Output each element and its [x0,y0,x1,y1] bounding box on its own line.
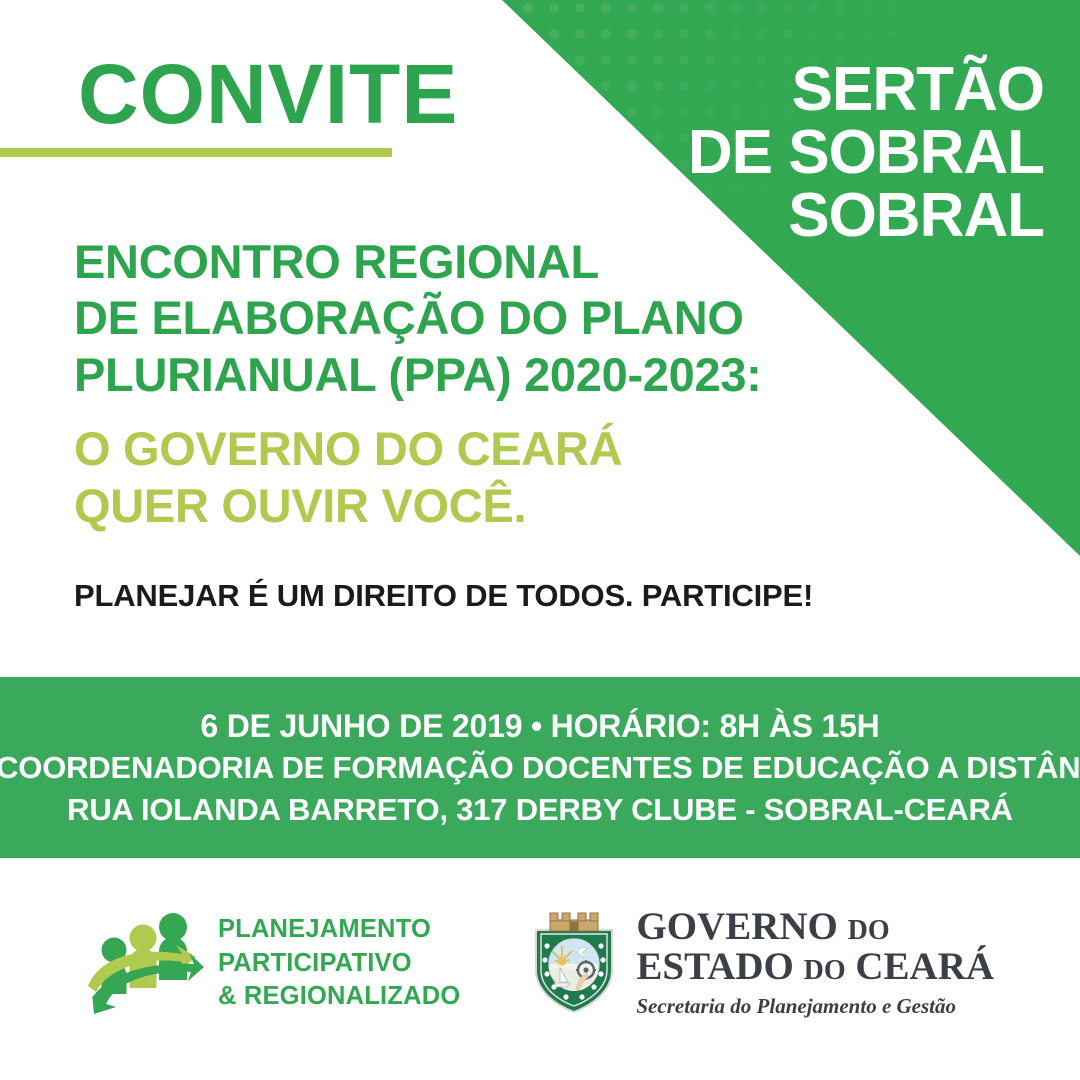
region-title-line3: SOBRAL [564,184,1044,247]
headline-green-block: ENCONTRO REGIONAL DE ELABORAÇÃO DO PLANO… [74,234,762,403]
headline-lime-line2: QUER OUVIR VOCÊ. [74,478,762,534]
invite-underline-rule [0,148,392,157]
region-title: SERTÃO DE SOBRAL SOBRAL [564,58,1044,248]
gov-line1: GOVERNO DO [636,908,994,945]
gov-subtitle: Secretaria do Planejamento e Gestão [636,994,994,1019]
event-place: LOCAL: COORDENADORIA DE FORMAÇÃO DOCENTE… [0,747,1080,789]
invite-heading: CONVITE [78,52,458,136]
ppr-line1: PLANEJAMENTO [218,913,460,947]
three-people-swoosh-icon [86,902,204,1025]
event-address: RUA IOLANDA BARRETO, 317 DERBY CLUBE - S… [67,789,1013,831]
event-date-time: 6 DE JUNHO DE 2019 • HORÁRIO: 8H ÀS 15H [200,705,879,748]
gov-line1-small: DO [848,915,890,946]
planejamento-participativo-label: PLANEJAMENTO PARTICIPATIVO & REGIONALIZA… [218,913,460,1015]
headline-lime-line1: O GOVERNO DO CEARÁ [74,421,762,477]
headline-green-line2: DE ELABORAÇÃO DO PLANO [74,290,762,346]
governo-ceara-label: GOVERNO DO ESTADO DO CEARÁ Secretaria do… [636,904,994,1019]
governo-ceara-logo: GOVERNO DO ESTADO DO CEARÁ Secretaria do… [526,904,994,1021]
main-headline: ENCONTRO REGIONAL DE ELABORAÇÃO DO PLANO… [74,234,762,534]
footer-logos: PLANEJAMENTO PARTICIPATIVO & REGIONALIZA… [0,880,1080,1080]
gov-line2-main-a: ESTADO [636,945,794,988]
tagline: PLANEJAR É UM DIREITO DE TODOS. PARTICIP… [74,578,813,614]
gov-line2: ESTADO DO CEARÁ [636,948,994,985]
poster-canvas: SERTÃO DE SOBRAL SOBRAL CONVITE ENCONTRO… [0,0,1080,1080]
gov-line2-main-b: CEARÁ [855,945,994,988]
planejamento-participativo-logo: PLANEJAMENTO PARTICIPATIVO & REGIONALIZA… [86,902,460,1025]
gov-line1-main: GOVERNO [636,905,838,948]
headline-lime-block: O GOVERNO DO CEARÁ QUER OUVIR VOCÊ. [74,421,762,534]
ceara-coat-of-arms-icon [526,904,622,1021]
ppr-line3: & REGIONALIZADO [218,980,460,1014]
event-info-band: 6 DE JUNHO DE 2019 • HORÁRIO: 8H ÀS 15H … [0,677,1080,858]
region-title-line2: DE SOBRAL [564,121,1044,184]
ppr-line2: PARTICIPATIVO [218,947,460,981]
headline-green-line3: PLURIANUAL (PPA) 2020-2023: [74,347,762,403]
region-title-line1: SERTÃO [564,58,1044,121]
gov-line2-small: DO [804,955,846,986]
